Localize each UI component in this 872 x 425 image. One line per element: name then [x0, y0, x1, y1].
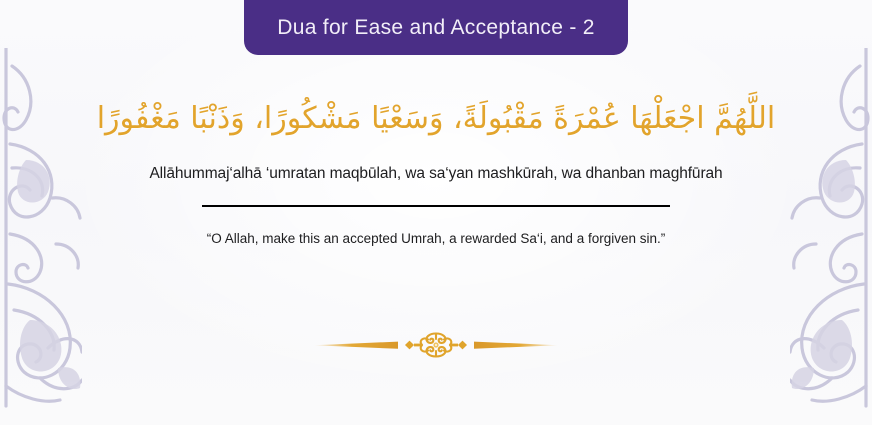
dua-card: Dua for Ease and Acceptance - 2: [0, 0, 872, 425]
header-tab: Dua for Ease and Acceptance - 2: [244, 0, 628, 55]
transliteration-text: Allāhummaj‘alhā ‘umratan maqbūlah, wa sa…: [84, 165, 788, 183]
arabic-text: اللَّهُمَّ اجْعَلْهَا عُمْرَةً مَقْبُولَ…: [84, 96, 788, 147]
divider-rule: [202, 205, 670, 207]
translation-text: “O Allah, make this an accepted Umrah, a…: [84, 231, 788, 246]
page-title: Dua for Ease and Acceptance - 2: [277, 16, 595, 40]
ornamental-divider: [312, 328, 560, 362]
